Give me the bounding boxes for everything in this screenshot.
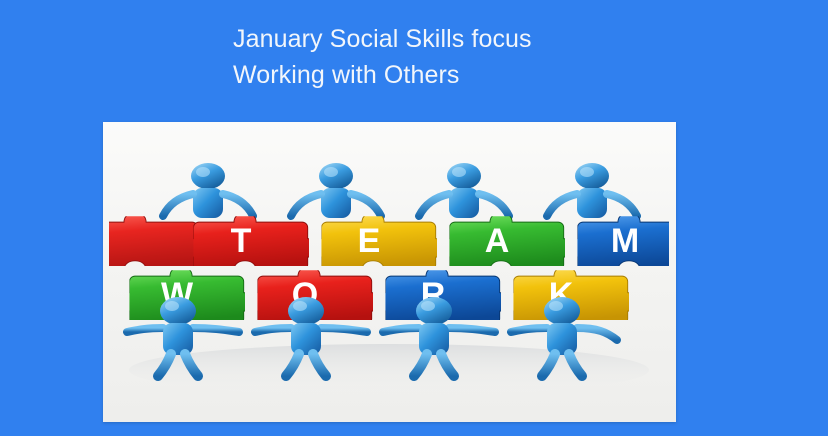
puzzle-row-top: T E A (109, 213, 669, 270)
figures-top-row (163, 163, 637, 218)
figure-top-2 (291, 163, 381, 218)
image-panel: T E A (103, 122, 676, 422)
figure-top-1 (163, 163, 253, 218)
puzzle-letter-A: A (485, 222, 510, 260)
puzzle-piece-E[interactable]: E (312, 213, 445, 270)
figure-top-4 (547, 163, 637, 218)
teamwork-svg: T E A (109, 148, 669, 398)
puzzle-letter-M: M (611, 222, 639, 260)
puzzle-letter-E: E (358, 222, 381, 260)
title-line-1: January Social Skills focus (233, 21, 753, 57)
teamwork-illustration: T E A (109, 148, 669, 398)
title-line-2: Working with Others (233, 57, 753, 93)
figure-top-3 (419, 163, 509, 218)
puzzle-letter-T: T (231, 222, 252, 260)
puzzle-piece-A[interactable]: A (440, 213, 573, 270)
puzzle-piece-M[interactable]: M (568, 213, 669, 270)
slide-canvas: January Social Skills focus Working with… (0, 0, 828, 436)
puzzle-piece-top-edge (109, 213, 207, 270)
page-title: January Social Skills focus Working with… (233, 21, 753, 93)
puzzle-piece-T[interactable]: T (184, 213, 317, 270)
